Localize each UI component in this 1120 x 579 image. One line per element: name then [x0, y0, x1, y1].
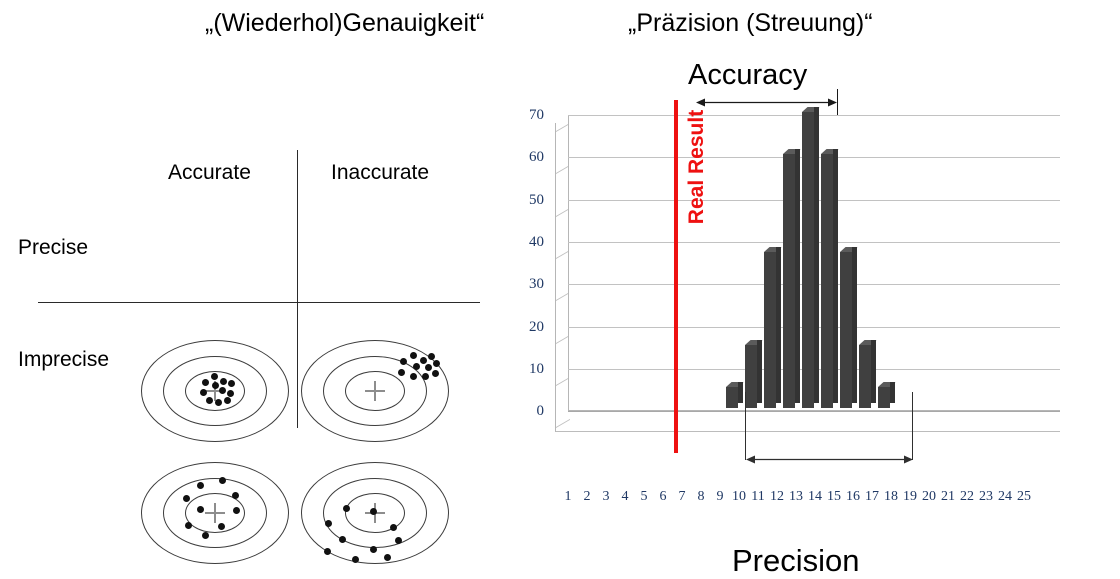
- target-accurate-imprecise: [140, 458, 290, 568]
- data-dot: [215, 399, 222, 406]
- bar: [859, 345, 871, 408]
- y-axis-tick-label: 70: [498, 107, 544, 123]
- data-dot: [390, 524, 397, 531]
- precision-right-tick: [912, 392, 913, 460]
- data-dot: [343, 505, 350, 512]
- data-dot: [212, 382, 219, 389]
- x-axis-tick-label: 25: [1013, 488, 1035, 505]
- data-dot: [398, 369, 405, 376]
- data-dot: [185, 522, 192, 529]
- bar: [878, 387, 890, 408]
- plot-area: 70 60 50 40 30 20 10 0: [555, 115, 1060, 430]
- data-dot: [422, 373, 429, 380]
- precision-annotation-label: Precision: [732, 543, 860, 579]
- data-dot: [202, 379, 209, 386]
- data-dot: [420, 357, 427, 364]
- target-accurate-precise: [140, 336, 290, 446]
- precision-left-tick: [745, 392, 746, 460]
- bar: [726, 387, 738, 408]
- data-dot: [200, 389, 207, 396]
- data-dot: [227, 390, 234, 397]
- data-dot: [197, 506, 204, 513]
- data-dot: [324, 548, 331, 555]
- bar: [821, 154, 833, 408]
- plot-floor: [555, 411, 1060, 433]
- target-inaccurate-precise: [300, 336, 450, 446]
- bar: [764, 252, 776, 408]
- axis-depth-wall: [555, 123, 569, 419]
- y-axis-tick-label: 10: [498, 361, 544, 377]
- data-dot: [219, 477, 226, 484]
- y-axis-tick-label: 50: [498, 192, 544, 208]
- data-dot: [428, 353, 435, 360]
- y-axis-tick-label: 60: [498, 149, 544, 165]
- data-dot: [183, 495, 190, 502]
- data-dot: [410, 352, 417, 359]
- data-dot: [425, 364, 432, 371]
- real-result-label: Real Result: [685, 97, 709, 237]
- data-dot: [206, 397, 213, 404]
- data-dot: [233, 507, 240, 514]
- data-dot: [352, 556, 359, 563]
- data-dot: [384, 554, 391, 561]
- data-dot: [232, 492, 239, 499]
- data-dot: [220, 378, 227, 385]
- quadrant-horizontal-divider: [38, 302, 480, 303]
- data-dot: [400, 358, 407, 365]
- data-dot: [370, 508, 377, 515]
- row-header-imprecise: Imprecise: [18, 347, 109, 372]
- accuracy-annotation-label: Accuracy: [688, 58, 807, 92]
- bar: [802, 112, 814, 408]
- data-dot: [339, 536, 346, 543]
- precision-double-arrow-icon: [746, 454, 913, 465]
- data-dot: [228, 380, 235, 387]
- data-dot: [432, 370, 439, 377]
- bar: [745, 345, 757, 408]
- data-dot: [218, 523, 225, 530]
- data-dot: [370, 546, 377, 553]
- y-axis-tick-label: 0: [498, 403, 544, 419]
- column-header-accurate: Accurate: [168, 160, 251, 185]
- x-axis-tick-labels: 1 2 3 4 5 6 7 8 9 10 11 12 13 14 15 16 1…: [555, 488, 1075, 508]
- data-dot: [197, 482, 204, 489]
- target-center-plus-icon: [205, 503, 225, 523]
- data-dot: [395, 537, 402, 544]
- row-header-precise: Precise: [18, 235, 88, 260]
- title-accuracy-german: „(Wiederhol)Genauigkeit“: [205, 8, 484, 38]
- data-dot: [413, 363, 420, 370]
- target-inaccurate-imprecise: [300, 458, 450, 568]
- real-result-line: [674, 100, 678, 453]
- title-precision-german: „Präzision (Streuung)“: [628, 8, 873, 38]
- data-dot: [410, 373, 417, 380]
- data-dot: [219, 387, 226, 394]
- bar: [840, 252, 852, 408]
- accuracy-right-tick: [837, 89, 838, 117]
- data-dot: [211, 373, 218, 380]
- data-dot: [433, 360, 440, 367]
- data-dot: [325, 520, 332, 527]
- y-axis-tick-label: 40: [498, 234, 544, 250]
- quadrant-vertical-divider: [297, 150, 298, 428]
- data-dot: [224, 397, 231, 404]
- target-center-plus-icon: [365, 381, 385, 401]
- y-axis-tick-label: 20: [498, 319, 544, 335]
- column-header-inaccurate: Inaccurate: [331, 160, 429, 185]
- y-axis-tick-label: 30: [498, 276, 544, 292]
- accuracy-precision-quadrant-diagram: Accurate Inaccurate Precise Imprecise: [0, 140, 480, 440]
- bar: [783, 154, 795, 408]
- histogram-chart: Accuracy 70 60 50 40 30 20: [500, 55, 1120, 533]
- data-dot: [202, 532, 209, 539]
